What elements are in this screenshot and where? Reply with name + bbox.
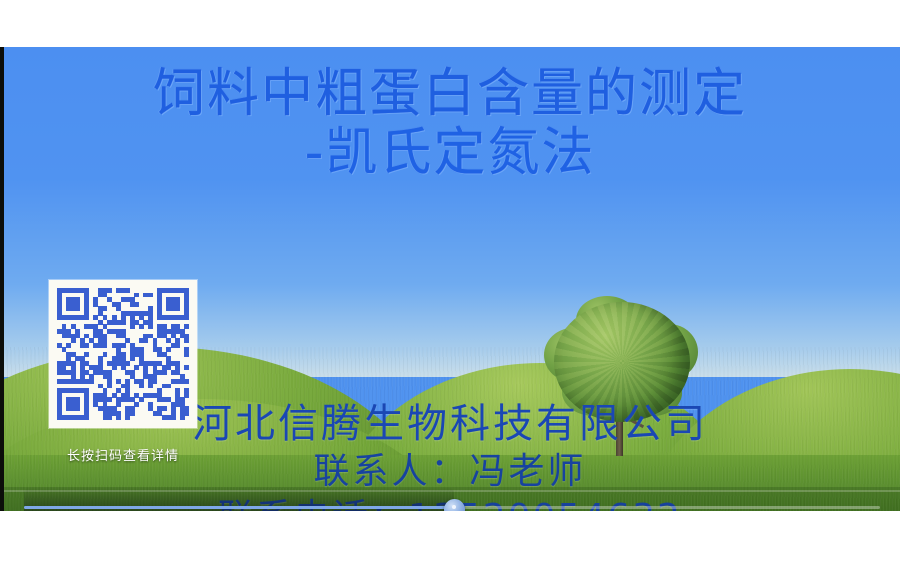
video-player-surface[interactable]: 饲料中粗蛋白含量的测定 -凯氏定氮法 长按扫码查看详情 河北信腾生物科技有限公司… (0, 47, 900, 511)
screenshot-root: 饲料中粗蛋白含量的测定 -凯氏定氮法 长按扫码查看详情 河北信腾生物科技有限公司… (0, 0, 900, 561)
qr-code-modules (57, 288, 189, 420)
video-title-line-2: -凯氏定氮法 (0, 122, 900, 185)
video-left-border (0, 47, 4, 511)
qr-code-caption: 长按扫码查看详情 (49, 445, 197, 464)
video-progress-fill (24, 506, 455, 509)
qr-code[interactable] (49, 280, 197, 428)
video-title-line-1: 饲料中粗蛋白含量的测定 (0, 47, 900, 126)
title-block: 饲料中粗蛋白含量的测定 -凯氏定氮法 (0, 47, 900, 186)
